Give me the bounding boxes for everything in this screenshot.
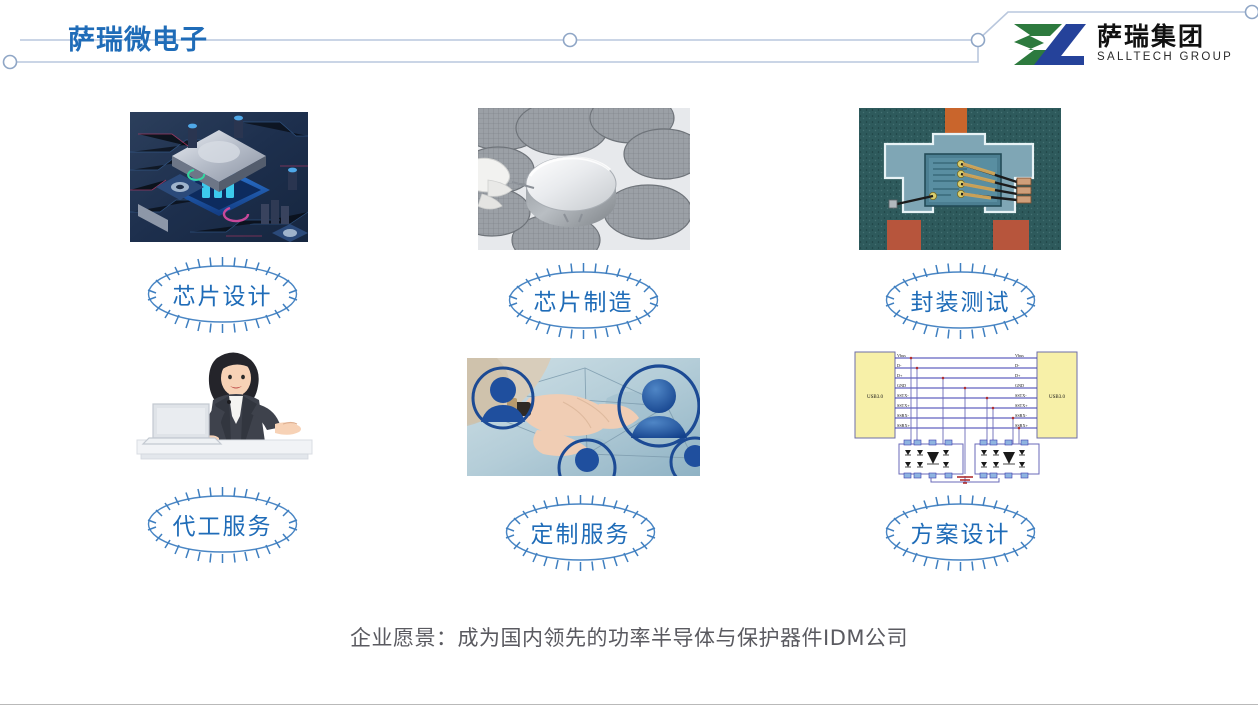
schematic-drawing: USB3.0 USB3.0 VbusD- D+GND S xyxy=(847,344,1085,486)
svg-text:USB3.0: USB3.0 xyxy=(867,395,883,400)
footer-divider xyxy=(0,704,1258,705)
svg-text:GND: GND xyxy=(1015,383,1024,388)
svg-text:USB3.0: USB3.0 xyxy=(1049,395,1065,400)
usb3-esd-protection-schematic: USB3.0 USB3.0 VbusD- D+GND S xyxy=(847,344,1085,486)
svg-text:SSRX+: SSRX+ xyxy=(1015,423,1028,428)
svg-text:SSRX+: SSRX+ xyxy=(897,423,910,428)
card-label-text: 方案设计 xyxy=(863,492,1058,572)
svg-text:SSTX-: SSTX- xyxy=(897,393,909,398)
label-foundry-service: 代工服务 xyxy=(125,484,320,564)
silicon-wafers-photo xyxy=(478,108,690,250)
touch-network-people-photo xyxy=(467,358,700,476)
vision-statement: 企业愿景：成为国内领先的功率半导体与保护器件IDM公司 xyxy=(0,622,1258,652)
deco-node-left xyxy=(4,56,17,69)
deco-node-mid xyxy=(564,34,577,47)
wire-bonded-die-microscope-photo xyxy=(859,108,1061,250)
label-solution-design: 方案设计 xyxy=(863,492,1058,572)
deco-node-junction xyxy=(972,34,985,47)
svg-text:GND: GND xyxy=(897,383,906,388)
card-foundry-service[interactable]: 代工服务 xyxy=(125,344,325,574)
logo-company-name-en: SALLTECH GROUP xyxy=(1097,51,1233,64)
label-chip-design: 芯片设计 xyxy=(125,254,320,334)
isometric-circuit-board-chip-photo xyxy=(130,112,308,242)
svg-text:SSTX+: SSTX+ xyxy=(897,403,910,408)
card-chip-design[interactable]: 芯片设计 xyxy=(130,112,310,338)
svg-text:D+: D+ xyxy=(897,373,903,378)
label-chip-manufacturing: 芯片制造 xyxy=(486,260,681,340)
card-solution-design[interactable]: USB3.0 USB3.0 VbusD- D+GND S xyxy=(845,344,1085,574)
svg-text:D-: D- xyxy=(897,363,902,368)
card-label-text: 封装测试 xyxy=(863,260,1058,340)
svg-text:Vbus: Vbus xyxy=(1015,353,1024,358)
label-package-test: 封装测试 xyxy=(863,260,1058,340)
company-logo: 萨瑞集团 SALLTECH GROUP xyxy=(1010,18,1250,70)
card-label-text: 定制服务 xyxy=(483,492,678,572)
card-package-test[interactable]: 封装测试 xyxy=(855,108,1070,338)
card-label-text: 代工服务 xyxy=(125,484,320,564)
slide-header: 萨瑞微电子 萨瑞集团 SALLTECH GROUP xyxy=(0,0,1258,96)
svg-text:Vbus: Vbus xyxy=(897,353,906,358)
svg-text:SSRX-: SSRX- xyxy=(897,413,909,418)
salltech-logo-mark-icon xyxy=(1010,22,1088,67)
businesswoman-laptop-illustration xyxy=(125,344,323,462)
svg-text:D-: D- xyxy=(1015,363,1020,368)
page-title: 萨瑞微电子 xyxy=(68,18,208,57)
card-custom-service[interactable]: 定制服务 xyxy=(465,344,700,574)
capability-grid: 芯片设计 xyxy=(0,96,1258,596)
svg-text:SSTX-: SSTX- xyxy=(1015,393,1027,398)
card-label-text: 芯片制造 xyxy=(486,260,681,340)
svg-text:SSRX-: SSRX- xyxy=(1015,413,1027,418)
deco-node-right xyxy=(1246,6,1258,19)
card-chip-manufacturing[interactable]: 芯片制造 xyxy=(468,108,698,338)
label-custom-service: 定制服务 xyxy=(483,492,678,572)
card-label-text: 芯片设计 xyxy=(125,254,320,334)
svg-text:D+: D+ xyxy=(1015,373,1021,378)
logo-company-name-cn: 萨瑞集团 xyxy=(1097,24,1233,50)
svg-text:SSTX+: SSTX+ xyxy=(1015,403,1028,408)
